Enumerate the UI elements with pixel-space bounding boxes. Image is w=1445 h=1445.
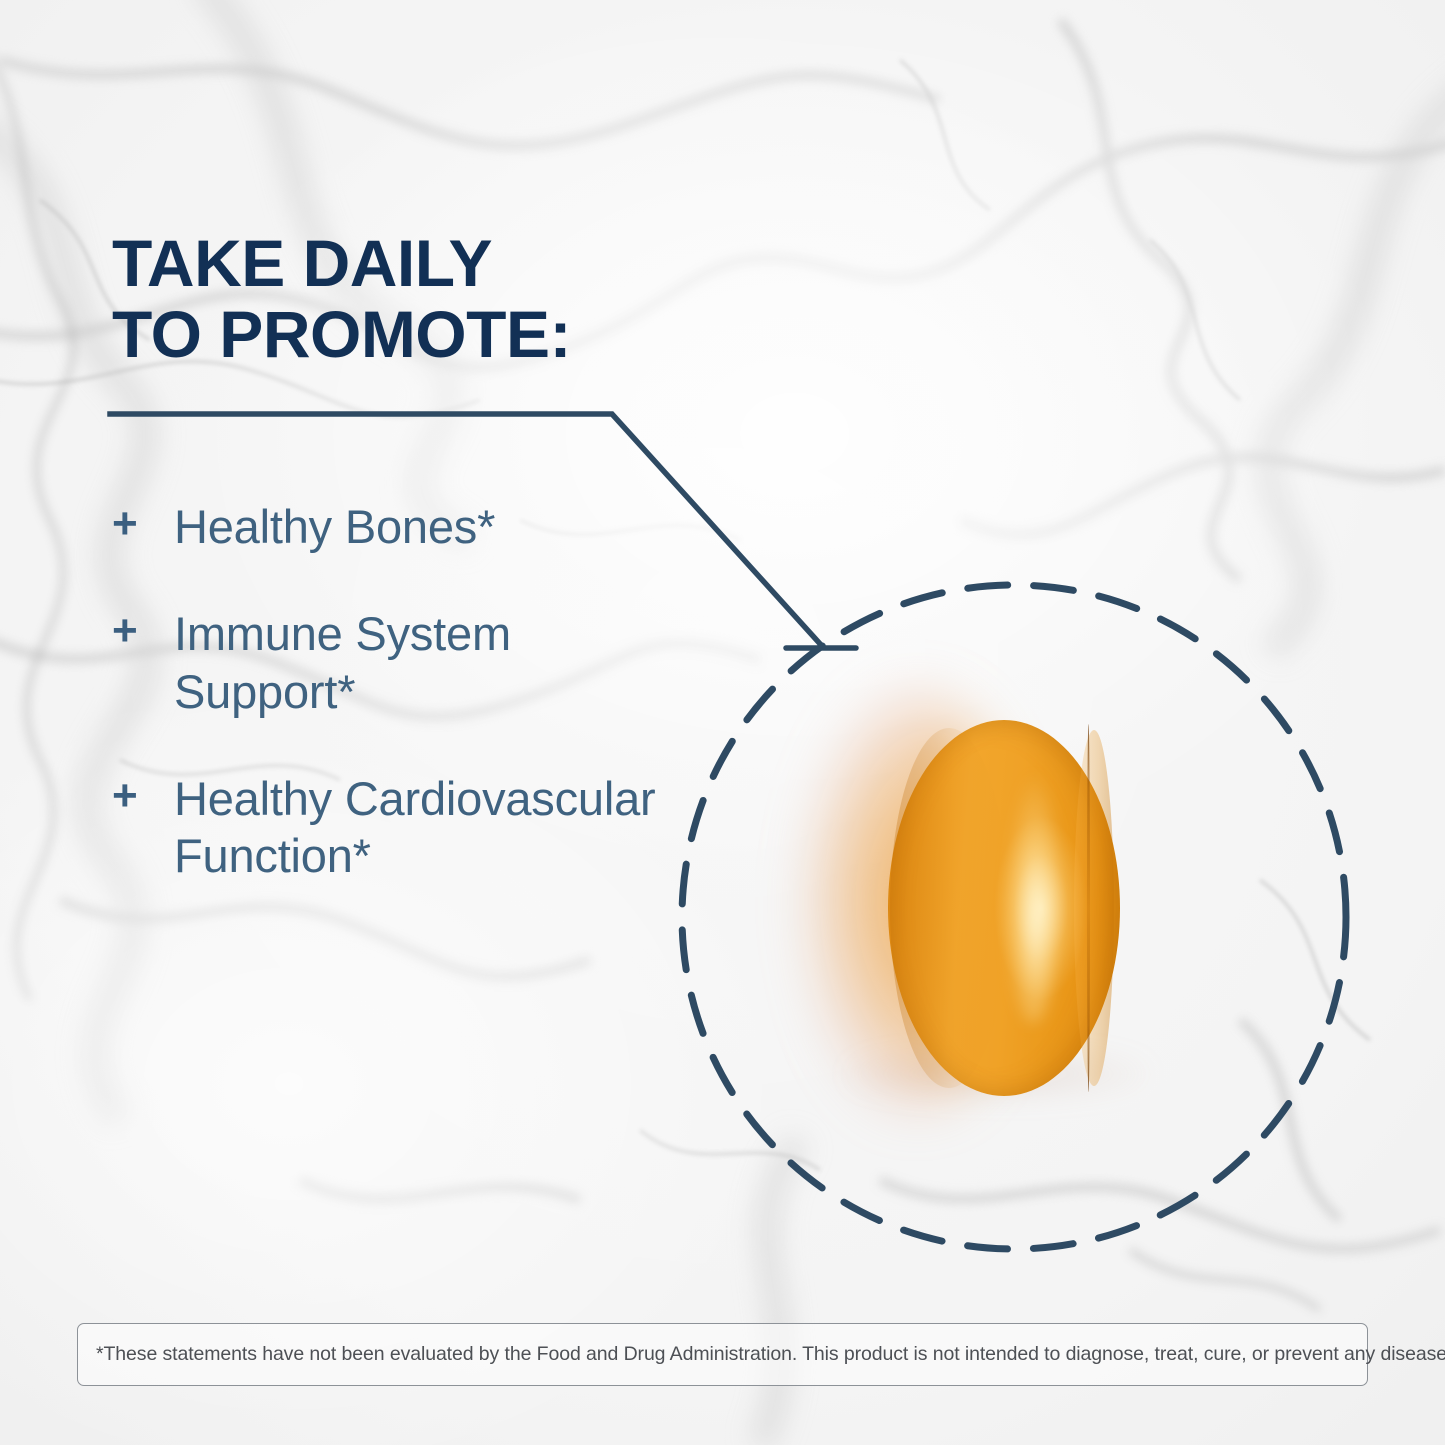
capsule-left-lobe-shading — [890, 728, 1008, 1088]
product-infographic: TAKE DAILY TO PROMOTE: + Healthy Bones* … — [0, 0, 1445, 1445]
benefits-list: + Healthy Bones* + Immune System Support… — [112, 498, 672, 935]
capsule-highlight — [1006, 774, 1060, 1024]
disclaimer-box: *These statements have not been evaluate… — [77, 1323, 1368, 1386]
benefit-item-immune-system-support: + Immune System Support* — [112, 605, 672, 720]
disclaimer-text: *These statements have not been evaluate… — [96, 1342, 1445, 1367]
capsule-seam-line — [1087, 724, 1090, 1092]
page-title: TAKE DAILY TO PROMOTE: — [112, 228, 752, 371]
capsule-right-rim — [1074, 730, 1114, 1086]
benefit-label: Healthy Bones* — [174, 498, 495, 555]
benefit-item-healthy-bones: + Healthy Bones* — [112, 498, 672, 555]
benefit-label: Healthy Cardiovascular Function* — [174, 770, 672, 885]
softgel-capsule — [888, 720, 1120, 1096]
product-image — [660, 560, 1380, 1280]
benefit-item-healthy-cardiovascular-function: + Healthy Cardiovascular Function* — [112, 770, 672, 885]
benefit-label: Immune System Support* — [174, 605, 672, 720]
benefit-plus-icon: + — [112, 770, 174, 822]
benefit-plus-icon: + — [112, 605, 174, 657]
benefit-plus-icon: + — [112, 498, 174, 550]
